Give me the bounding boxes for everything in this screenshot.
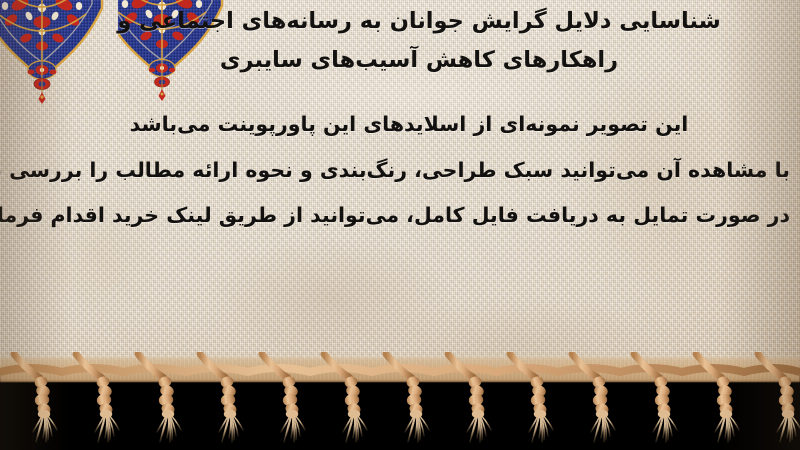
slide-canvas: شناسایی دلایل گرایش جوانان به رسانه‌های … bbox=[0, 0, 800, 450]
slide-body-line-1: این تصویر نمونه‌ای از اسلایدهای این پاور… bbox=[10, 112, 790, 136]
carpet-fringe-tassels bbox=[0, 352, 800, 450]
slide-title-line-1: شناسایی دلایل گرایش جوانان به رسانه‌های … bbox=[20, 8, 782, 34]
slide-title-line-2: راهکارهای کاهش آسیب‌های سایبری bbox=[20, 47, 782, 73]
slide-text-layer: شناسایی دلایل گرایش جوانان به رسانه‌های … bbox=[0, 0, 800, 372]
slide-body-line-3: در صورت تمایل به دریافت فایل کامل، می‌تو… bbox=[10, 203, 790, 227]
slide-body-line-2: با مشاهده آن می‌توانید سبک طراحی، رنگ‌بن… bbox=[10, 158, 790, 182]
